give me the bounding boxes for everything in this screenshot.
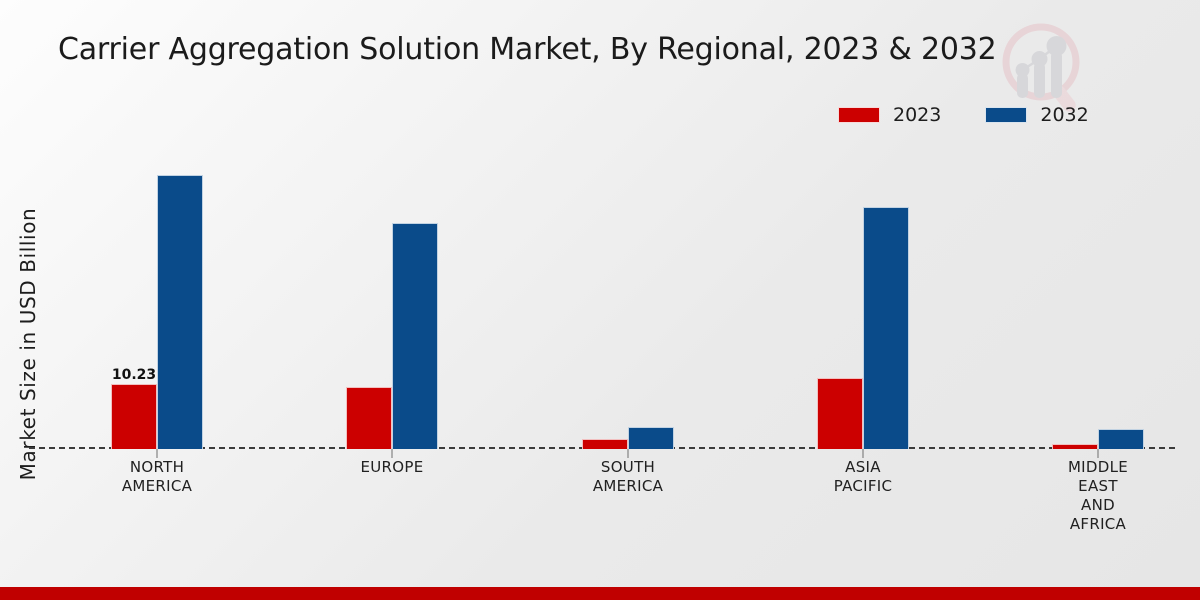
bar-value-label: 10.23	[112, 367, 156, 383]
bar-2032[interactable]	[863, 207, 909, 449]
legend-item-2032[interactable]: 2032	[985, 104, 1088, 126]
bar-chart-dots-icon	[1016, 36, 1067, 98]
bar-pair	[564, 150, 692, 449]
bar-2032[interactable]	[628, 427, 674, 449]
bar-pair	[328, 150, 456, 449]
chart-legend: 2023 2032	[838, 104, 1089, 126]
bar-group: SOUTH AMERICA	[564, 150, 692, 449]
chart-title: Carrier Aggregation Solution Market, By …	[58, 32, 997, 67]
bar-pair: 10.23	[93, 150, 221, 449]
x-axis-tick	[157, 449, 158, 458]
x-axis-category-label: SOUTH AMERICA	[593, 458, 663, 496]
legend-item-2023[interactable]: 2023	[838, 104, 941, 126]
x-axis-category-label: ASIA PACIFIC	[834, 458, 893, 496]
x-axis-tick	[1098, 449, 1099, 458]
x-axis-tick	[863, 449, 864, 458]
bar-2032[interactable]	[1098, 429, 1144, 449]
bar-2032[interactable]	[392, 223, 438, 449]
bar-group: ASIA PACIFIC	[799, 150, 927, 449]
market-research-logo-watermark	[995, 18, 1095, 113]
x-axis-category-label: MIDDLE EAST AND AFRICA	[1068, 458, 1128, 534]
bar-pair	[799, 150, 927, 449]
legend-swatch-2023	[838, 107, 880, 123]
x-axis-category-label: NORTH AMERICA	[122, 458, 192, 496]
legend-label-2032: 2032	[1040, 104, 1088, 126]
x-axis-tick	[392, 449, 393, 458]
bar-2023[interactable]	[346, 387, 392, 449]
bar-group: MIDDLE EAST AND AFRICA	[1034, 150, 1162, 449]
legend-swatch-2032	[985, 107, 1027, 123]
bar-2023[interactable]: 10.23	[111, 384, 157, 449]
x-axis-category-label: EUROPE	[360, 458, 423, 477]
bar-group: 10.23NORTH AMERICA	[93, 150, 221, 449]
bar-2023[interactable]	[1052, 444, 1098, 449]
footer-stripe	[0, 587, 1200, 600]
legend-label-2023: 2023	[893, 104, 941, 126]
chart-canvas: Carrier Aggregation Solution Market, By …	[0, 0, 1200, 600]
bar-2032[interactable]	[157, 175, 203, 449]
bar-pair	[1034, 150, 1162, 449]
bar-2023[interactable]	[582, 439, 628, 449]
plot-area: 10.23NORTH AMERICAEUROPESOUTH AMERICAASI…	[29, 150, 1175, 449]
x-axis-tick	[628, 449, 629, 458]
bar-2023[interactable]	[817, 378, 863, 449]
magnifier-ring-icon	[1006, 27, 1078, 113]
bar-group: EUROPE	[328, 150, 456, 449]
